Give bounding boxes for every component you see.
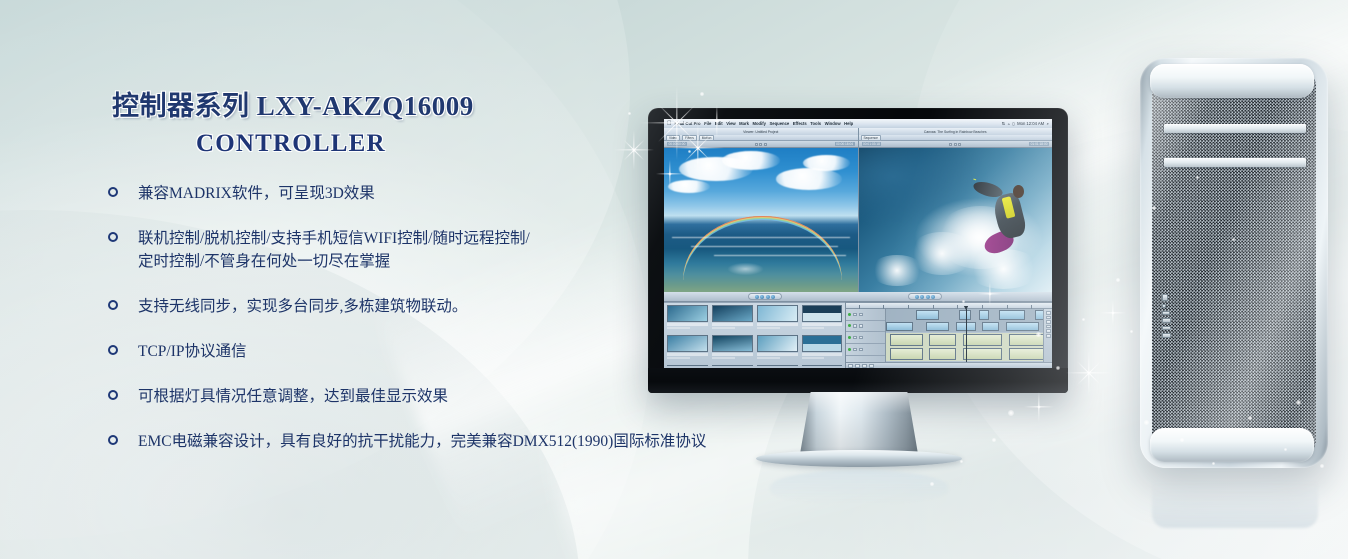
- viewer-row: Viewer: Untitled Project Video Filters M…: [664, 128, 1052, 292]
- feature-text: 可根据灯具情况任意调整，达到最佳显示效果: [138, 388, 448, 405]
- viewer-panel-right[interactable]: Canvas: The Surfing in Rainbow Beaches S…: [859, 128, 1053, 292]
- viewer-timecode-bar[interactable]: 00:00:00:00 00:00:18:04: [664, 141, 858, 148]
- timeline-clip[interactable]: MUS.aiff: [890, 348, 923, 360]
- computer-tower: ☉: [1140, 58, 1328, 468]
- timeline-clip[interactable]: Surfing.mov: [886, 322, 913, 332]
- viewer-titlebar[interactable]: Viewer: Untitled Project: [664, 128, 858, 135]
- timeline-tracks-area[interactable]: Surfing.mov Surfing.mov: [846, 309, 1052, 362]
- menu-item-effects[interactable]: Effects: [793, 121, 807, 126]
- track-audible-led[interactable]: [848, 348, 851, 351]
- firewire-port[interactable]: [1162, 311, 1170, 315]
- menu-item-tools[interactable]: Tools: [810, 121, 821, 126]
- timeline-clip[interactable]: MUS.aiff: [890, 334, 923, 346]
- feature-text: 联机控制/脱机控制/支持手机短信WIFI控制/随时远程控制/ 定时控制/不管身在…: [138, 230, 530, 270]
- zoom-tool-icon[interactable]: [1046, 325, 1051, 329]
- bullet-ring-icon: [108, 435, 118, 445]
- menu-item-mark[interactable]: Mark: [739, 121, 749, 126]
- track-solo-button[interactable]: [859, 348, 863, 352]
- crop-tool-icon[interactable]: [1046, 329, 1051, 333]
- bullet-ring-icon: [108, 390, 118, 400]
- timeline-clip[interactable]: [979, 310, 989, 320]
- feature-text: 支持无线同步，实现多台同步,多栋建筑物联动。: [138, 298, 467, 315]
- battery-icon[interactable]: ▯: [1012, 121, 1014, 126]
- zoom-control-icon[interactable]: [949, 143, 952, 146]
- track-visible-led[interactable]: [848, 313, 851, 316]
- track-header-a2[interactable]: [846, 344, 885, 356]
- list-item[interactable]: [667, 305, 708, 332]
- monitor-chin: [648, 368, 1068, 393]
- page-title-chinese: 控制器系列 LXY-AKZQ16009: [112, 84, 474, 123]
- timeline-clip[interactable]: MUS.aiff: [929, 334, 956, 346]
- menu-item-modify[interactable]: Modify: [752, 121, 766, 126]
- bullet-ring-icon: [108, 187, 118, 197]
- tower-handle-bottom: [1150, 428, 1314, 462]
- bullet-ring-icon: [108, 345, 118, 355]
- feature-text: EMC电磁兼容设计，具有良好的抗干扰能力，完美兼容DMX512(1990)国际标…: [138, 433, 706, 450]
- timecode-out[interactable]: 01:01:18:00: [1029, 142, 1049, 146]
- clock-label[interactable]: Mon 12:04 AM: [1017, 121, 1044, 126]
- menu-item-window[interactable]: Window: [825, 121, 841, 126]
- marker-control-icon[interactable]: [958, 143, 961, 146]
- browser-panel[interactable]: Surf Footage Effects Clip Name: [664, 292, 846, 368]
- razor-tool-icon[interactable]: [1046, 320, 1051, 324]
- tab-motion[interactable]: Motion: [699, 135, 715, 141]
- headphone-jack[interactable]: [1162, 304, 1166, 308]
- canvas-transport-controls[interactable]: [949, 143, 961, 146]
- menu-bar-status-area[interactable]: ⇅ ▵ ▯ Mon 12:04 AM ⌕: [1002, 121, 1049, 126]
- list-item[interactable]: [802, 305, 843, 332]
- list-item[interactable]: [757, 335, 798, 362]
- bluetooth-icon[interactable]: ⇅: [1002, 121, 1006, 126]
- viewer-video-image-beach: [664, 148, 858, 292]
- optical-drive-slot-1[interactable]: [1164, 124, 1306, 133]
- list-item[interactable]: [712, 305, 753, 332]
- list-item: EMC电磁兼容设计，具有良好的抗干扰能力，完美兼容DMX512(1990)国际标…: [108, 430, 868, 453]
- timeline-clip[interactable]: MUS.aiff: [963, 348, 1003, 360]
- usb-port[interactable]: [1162, 326, 1171, 331]
- browser-thumbnail-grid[interactable]: [667, 305, 842, 366]
- promo-banner: 控制器系列 LXY-AKZQ16009 CONTROLLER 兼容MADRIX软…: [0, 0, 1348, 559]
- pen-tool-icon[interactable]: [1046, 334, 1051, 338]
- track-visible-led[interactable]: [848, 324, 851, 327]
- tower-handle-top: [1150, 64, 1314, 98]
- timeline-tool-palette[interactable]: [1043, 309, 1052, 362]
- viewer-panel-left[interactable]: Viewer: Untitled Project Video Filters M…: [664, 128, 859, 292]
- viewer-playback-controls-left[interactable]: [748, 293, 782, 300]
- timeline-track-headers[interactable]: [846, 309, 886, 362]
- tab-filters[interactable]: Filters: [682, 135, 697, 141]
- timeline-clip[interactable]: Surfing.mov: [1006, 322, 1039, 332]
- bullet-ring-icon: [108, 232, 118, 242]
- clip-overlays-icon[interactable]: [869, 364, 874, 368]
- canvas-timecode-bar[interactable]: 00:01:03:18 01:01:18:00: [859, 141, 1053, 148]
- canvas-titlebar[interactable]: Canvas: The Surfing in Rainbow Beaches: [859, 128, 1053, 135]
- track-lock-button[interactable]: [853, 336, 857, 340]
- list-item[interactable]: [712, 335, 753, 362]
- video-track-v2[interactable]: Surfing.mov: [886, 309, 1052, 321]
- timecode-in[interactable]: 00:01:03:18: [862, 142, 882, 146]
- track-mute-button[interactable]: [859, 324, 863, 328]
- selection-tool-icon[interactable]: [1046, 311, 1051, 315]
- display-monitor:  Final Cut Pro File Edit View Mark Modi…: [648, 108, 1068, 393]
- tower-reflection: [1152, 470, 1318, 528]
- feature-text: TCP/IP协议通信: [138, 343, 247, 360]
- menu-item-file[interactable]: File: [704, 121, 711, 126]
- track-mute-button[interactable]: [859, 313, 863, 317]
- wifi-icon[interactable]: ▵: [1008, 121, 1010, 126]
- track-height-icon[interactable]: [862, 364, 867, 368]
- macos-menu-bar[interactable]:  Final Cut Pro File Edit View Mark Modi…: [664, 119, 1052, 128]
- surfer-figure: [982, 180, 1040, 261]
- timeline-clip[interactable]: MUS.aiff: [929, 348, 956, 360]
- timeline-clip-canvas[interactable]: Surfing.mov Surfing.mov: [886, 309, 1052, 362]
- menu-item-view[interactable]: View: [726, 121, 735, 126]
- optical-drive-slot-2[interactable]: [1164, 158, 1306, 167]
- track-header-a1[interactable]: [846, 332, 885, 344]
- track-header-v2[interactable]: [846, 309, 885, 321]
- bullet-ring-icon: [108, 300, 118, 310]
- panel-control-strip[interactable]: [664, 292, 1052, 302]
- timecode-in[interactable]: 00:00:00:00: [667, 142, 687, 146]
- timeline-clip[interactable]: Surfing.mov: [916, 310, 939, 320]
- list-item[interactable]: [802, 335, 843, 362]
- viewer-playback-controls-right[interactable]: [908, 293, 942, 300]
- marker-control-icon[interactable]: [764, 143, 767, 146]
- list-item[interactable]: [802, 365, 843, 366]
- monitor-stand-neck: [800, 392, 918, 454]
- list-item[interactable]: [667, 365, 708, 366]
- monitor-screen:  Final Cut Pro File Edit View Mark Modi…: [664, 119, 1052, 368]
- view-control-icon[interactable]: [954, 143, 957, 146]
- timeline-clip[interactable]: MUS.aiff: [963, 334, 1003, 346]
- timeline-clip[interactable]: MUS.aiff: [1009, 334, 1045, 346]
- video-track-v1[interactable]: Surfing.mov Surfing.mov: [886, 321, 1052, 333]
- timeline-clip[interactable]: [982, 322, 999, 332]
- list-item[interactable]: [712, 365, 753, 366]
- audio-track-a2[interactable]: MUS.aiff MUS.aiff MUS.aiff MUS.aiff: [886, 347, 1052, 361]
- list-item[interactable]: [667, 335, 708, 362]
- usb-port[interactable]: [1162, 333, 1171, 338]
- menu-item-edit[interactable]: Edit: [715, 121, 723, 126]
- firewire-icon: ☉: [1162, 294, 1168, 301]
- spotlight-icon[interactable]: ⌕: [1047, 121, 1049, 126]
- menu-item-sequence[interactable]: Sequence: [769, 121, 789, 126]
- tab-video[interactable]: Video: [666, 135, 680, 141]
- timeline-panel[interactable]: Timeline: The Surfing in Rainbow Beaches: [846, 292, 1052, 368]
- usb-port[interactable]: [1162, 318, 1171, 323]
- track-header-v1[interactable]: [846, 321, 885, 333]
- tower-aluminium-case: ☉: [1140, 58, 1328, 468]
- zoom-out-icon[interactable]: [848, 364, 853, 368]
- track-lock-button[interactable]: [853, 313, 857, 317]
- timecode-out[interactable]: 00:00:18:04: [835, 142, 855, 146]
- timeline-clip[interactable]: MUS.aiff: [1009, 348, 1045, 360]
- zoom-control-icon[interactable]: [755, 143, 758, 146]
- monitor-bezel:  Final Cut Pro File Edit View Mark Modi…: [648, 108, 1068, 393]
- tower-front-port-cluster[interactable]: ☉: [1162, 294, 1178, 338]
- track-audible-led[interactable]: [848, 336, 851, 339]
- workspace-lower: Surf Footage Effects Clip Name: [664, 292, 1052, 368]
- list-item[interactable]: [757, 305, 798, 332]
- list-item[interactable]: [757, 365, 798, 366]
- canvas-video-image-surfer: [859, 148, 1053, 292]
- track-solo-button[interactable]: [859, 336, 863, 340]
- apple-logo-icon[interactable]: : [667, 121, 672, 127]
- menu-item-final-cut-pro[interactable]: Final Cut Pro: [675, 121, 701, 126]
- track-lock-button[interactable]: [853, 348, 857, 352]
- tab-sequence[interactable]: Sequence: [861, 135, 881, 141]
- timeline-clip[interactable]: [999, 310, 1026, 320]
- monitor-stand-base: [756, 450, 962, 467]
- audio-track-a1[interactable]: MUS.aiff MUS.aiff MUS.aiff MUS.aiff: [886, 333, 1052, 347]
- monitor-stand-reflection: [770, 470, 948, 504]
- viewer-transport-controls[interactable]: [755, 143, 767, 146]
- timeline-clip[interactable]: [926, 322, 949, 332]
- zoom-in-icon[interactable]: [855, 364, 860, 368]
- menu-item-help[interactable]: Help: [844, 121, 853, 126]
- feature-text: 兼容MADRIX软件，可呈现3D效果: [138, 185, 375, 202]
- view-control-icon[interactable]: [759, 143, 762, 146]
- track-lock-button[interactable]: [853, 324, 857, 328]
- page-title-english: CONTROLLER: [196, 130, 386, 158]
- edit-tool-icon[interactable]: [1046, 316, 1051, 320]
- timeline-playhead[interactable]: [966, 309, 967, 362]
